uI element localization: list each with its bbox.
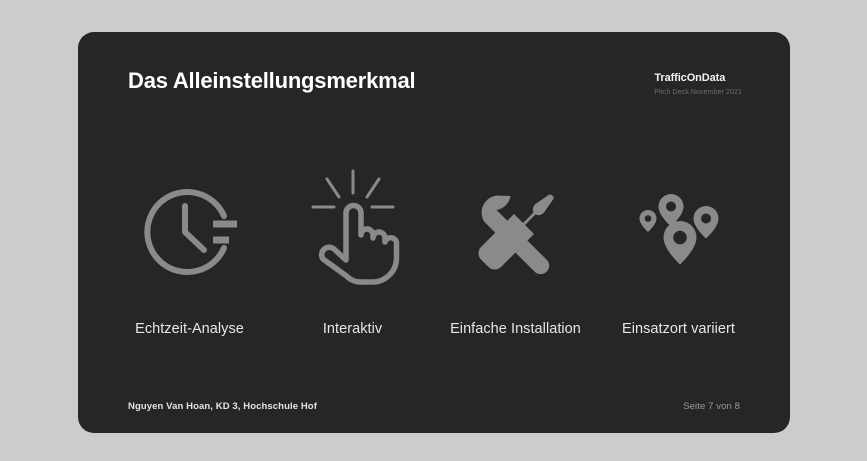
feature-item-realtime-analysis: Echtzeit-Analyse bbox=[108, 137, 271, 337]
feature-label: Einsatzort variiert bbox=[622, 321, 735, 337]
slide-header: Das Alleinstellungsmerkmal TrafficOnData… bbox=[78, 32, 790, 122]
slide-card: Das Alleinstellungsmerkmal TrafficOnData… bbox=[78, 32, 790, 433]
map-pins-icon bbox=[633, 164, 725, 299]
footer-page-number: Seite 7 von 8 bbox=[683, 401, 740, 412]
brand-name: TrafficOnData bbox=[654, 72, 742, 85]
clock-analytics-icon bbox=[138, 164, 242, 299]
tap-hand-icon bbox=[303, 164, 403, 299]
slide-footer: Nguyen Van Hoan, KD 3, Hochschule Hof Se… bbox=[78, 373, 790, 433]
brand-subtitle: Pitch Deck November 2021 bbox=[654, 87, 742, 98]
feature-item-easy-installation: Einfache Installation bbox=[434, 137, 597, 337]
feature-item-interactive: Interaktiv bbox=[271, 137, 434, 337]
footer-author: Nguyen Van Hoan, KD 3, Hochschule Hof bbox=[128, 401, 317, 412]
feature-label: Interaktiv bbox=[323, 321, 382, 337]
page-title: Das Alleinstellungsmerkmal bbox=[128, 68, 415, 94]
feature-list: Echtzeit-Analyse Interakti bbox=[108, 137, 760, 337]
feature-label: Echtzeit-Analyse bbox=[135, 321, 244, 337]
feature-label: Einfache Installation bbox=[450, 321, 581, 337]
brand-block: TrafficOnData Pitch Deck November 2021 bbox=[654, 72, 742, 98]
feature-item-flexible-location: Einsatzort variiert bbox=[597, 137, 760, 337]
wrench-screwdriver-icon bbox=[473, 164, 559, 299]
